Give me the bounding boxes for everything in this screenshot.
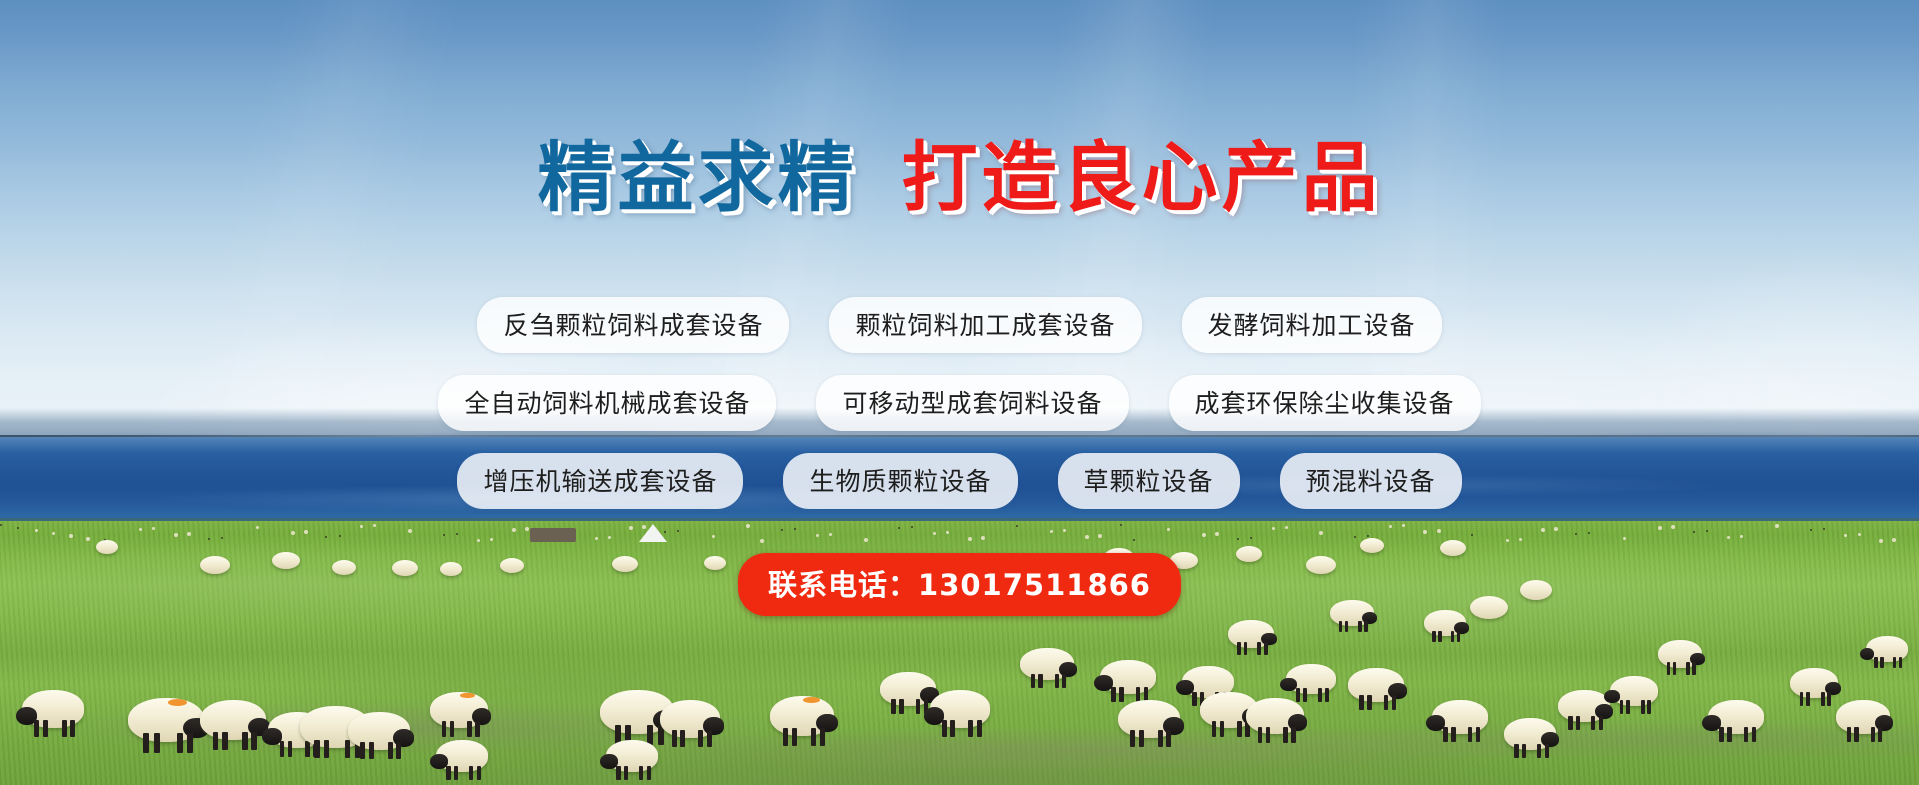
sheep-leg bbox=[1871, 727, 1875, 742]
product-pill-fermented-feed-processing[interactable]: 发酵饲料加工设备 bbox=[1182, 297, 1442, 353]
sheep bbox=[96, 540, 118, 554]
sheep-leg bbox=[1692, 662, 1696, 675]
sheep-leg bbox=[1667, 662, 1671, 675]
sheep bbox=[1432, 700, 1488, 734]
distant-animal-speck bbox=[608, 536, 611, 539]
sheep-leg bbox=[1476, 727, 1480, 742]
sheep-leg bbox=[1522, 744, 1526, 758]
sheep-leg bbox=[213, 732, 218, 750]
sheep-leg bbox=[1847, 727, 1851, 742]
sheep bbox=[430, 692, 488, 728]
sheep bbox=[1348, 668, 1404, 702]
distant-animal-speck bbox=[69, 534, 73, 538]
sheep-leg bbox=[1800, 692, 1804, 706]
distant-animal-speck bbox=[1471, 534, 1473, 536]
sheep-leg bbox=[698, 730, 703, 747]
sheep-leg bbox=[1384, 695, 1388, 710]
sheep bbox=[1286, 664, 1336, 694]
sheep-head bbox=[600, 754, 618, 769]
distant-animal-speck bbox=[52, 532, 55, 535]
distant-animal-speck bbox=[1858, 533, 1861, 536]
sheep-leg bbox=[647, 766, 651, 780]
sheep-leg bbox=[1038, 674, 1042, 688]
sheep-leg bbox=[891, 699, 895, 714]
sheep-leg bbox=[1325, 688, 1329, 702]
sheep-head bbox=[1280, 678, 1297, 692]
sheep-leg bbox=[1827, 692, 1831, 706]
distant-animal-speck bbox=[456, 533, 458, 535]
sheep-paint-mark bbox=[803, 697, 820, 703]
sheep bbox=[1866, 636, 1908, 662]
sheep-leg bbox=[1237, 642, 1241, 655]
sheep-leg bbox=[899, 699, 903, 714]
sheep-leg bbox=[222, 732, 227, 750]
sheep-leg bbox=[1457, 631, 1460, 643]
sheep-leg bbox=[324, 740, 330, 759]
distant-animal-speck bbox=[291, 531, 295, 535]
sheep-leg bbox=[639, 766, 643, 780]
sheep-leg bbox=[396, 742, 401, 759]
sheep-leg bbox=[1291, 727, 1296, 743]
sheep-paint-mark bbox=[168, 699, 188, 706]
sheep-leg bbox=[43, 720, 48, 737]
product-pill-mobile-feed-equipment[interactable]: 可移动型成套饲料设备 bbox=[816, 375, 1128, 431]
distant-animal-speck bbox=[1575, 533, 1577, 535]
sheep-head bbox=[1176, 680, 1194, 695]
sheep-leg bbox=[467, 721, 472, 737]
contact-phone-wrapper: 联系电话：13017511866 bbox=[0, 553, 1919, 616]
distant-animal-speck bbox=[1085, 535, 1089, 539]
sheep-leg bbox=[616, 766, 620, 780]
sheep-leg bbox=[950, 720, 955, 737]
sheep-leg bbox=[1296, 688, 1300, 702]
sheep-leg bbox=[1821, 692, 1825, 706]
sheep-leg bbox=[1451, 631, 1454, 643]
distant-animal-speck bbox=[1250, 537, 1252, 539]
sheep-head bbox=[1860, 648, 1874, 660]
distant-animal-speck bbox=[490, 538, 493, 541]
distant-animal-speck bbox=[325, 536, 327, 538]
sheep-leg bbox=[446, 766, 450, 780]
sheep-leg bbox=[1641, 700, 1645, 714]
product-pill-row-2: 全自动饲料机械成套设备 可移动型成套饲料设备 成套环保除尘收集设备 bbox=[0, 375, 1919, 431]
product-pill-biomass-pellet-equipment[interactable]: 生物质颗粒设备 bbox=[783, 453, 1017, 509]
product-pill-ruminant-pellet-feed[interactable]: 反刍颗粒饲料成套设备 bbox=[477, 297, 789, 353]
sheep-leg bbox=[1880, 657, 1883, 669]
sheep-leg bbox=[34, 720, 39, 737]
distant-animal-speck bbox=[443, 534, 445, 536]
sheep-leg bbox=[143, 733, 149, 753]
sheep-leg bbox=[624, 766, 628, 780]
sheep-leg bbox=[916, 699, 920, 714]
distant-animal-speck bbox=[1588, 532, 1590, 534]
sheep-leg bbox=[1212, 721, 1217, 737]
sheep bbox=[1246, 698, 1304, 734]
sheep bbox=[1020, 648, 1074, 680]
sheep-leg bbox=[1514, 744, 1518, 758]
distant-animal-speck bbox=[981, 536, 985, 540]
product-pill-row-3: 增压机输送成套设备 生物质颗粒设备 草颗粒设备 预混料设备 bbox=[0, 453, 1919, 509]
sheep-leg bbox=[1031, 674, 1035, 688]
sheep-head bbox=[1094, 675, 1113, 691]
sheep-body bbox=[1360, 538, 1384, 553]
sheep-leg bbox=[783, 728, 788, 746]
distant-animal-speck bbox=[1727, 536, 1730, 539]
sheep-leg bbox=[1893, 657, 1896, 669]
product-pill-grass-pellet-equipment[interactable]: 草颗粒设备 bbox=[1058, 453, 1240, 509]
distant-animal-speck bbox=[816, 534, 819, 537]
distant-animal-speck bbox=[1319, 531, 1323, 535]
product-pill-automatic-feed-machinery[interactable]: 全自动饲料机械成套设备 bbox=[438, 375, 776, 431]
distant-animal-speck bbox=[339, 535, 341, 537]
sheep-leg bbox=[1318, 688, 1322, 702]
sheep-leg bbox=[977, 720, 982, 737]
sheep-leg bbox=[1686, 662, 1690, 675]
sheep-leg bbox=[1806, 692, 1810, 706]
sheep-leg bbox=[388, 742, 393, 759]
sheep-head bbox=[1426, 715, 1445, 731]
sheep bbox=[128, 698, 204, 742]
sheep-leg bbox=[1899, 657, 1902, 669]
sheep-leg bbox=[1244, 642, 1248, 655]
sheep-leg bbox=[1237, 721, 1242, 737]
sheep-leg bbox=[1591, 716, 1595, 730]
sheep-leg bbox=[360, 742, 365, 759]
sheep-leg bbox=[70, 720, 75, 737]
sheep-leg bbox=[1576, 716, 1580, 730]
distant-animal-speck bbox=[86, 537, 90, 541]
product-pill-row-1: 反刍颗粒饲料成套设备 颗粒饲料加工成套设备 发酵饲料加工设备 bbox=[0, 297, 1919, 353]
distant-animal-speck bbox=[187, 532, 191, 536]
sheep-leg bbox=[1537, 744, 1541, 758]
sheep-leg bbox=[1367, 695, 1371, 710]
distant-animal-speck bbox=[1215, 532, 1219, 536]
sheep-leg bbox=[242, 732, 247, 750]
headline-red-text: 打造良心产品 bbox=[902, 133, 1382, 222]
sheep-leg bbox=[1303, 688, 1307, 702]
sheep-leg bbox=[1055, 674, 1059, 688]
sheep-leg bbox=[1568, 716, 1572, 730]
sheep bbox=[770, 696, 834, 736]
distant-animal-speck bbox=[1844, 534, 1847, 537]
sheep-leg bbox=[1339, 621, 1343, 633]
sheep-leg bbox=[820, 728, 825, 746]
distant-animal-speck bbox=[208, 538, 210, 540]
sheep-leg bbox=[1438, 631, 1441, 643]
sheep-leg bbox=[1647, 700, 1651, 714]
sheep-leg bbox=[1673, 662, 1677, 675]
sheep-leg bbox=[477, 766, 481, 780]
sheep bbox=[1118, 700, 1180, 738]
sheep-leg bbox=[1359, 695, 1363, 710]
sheep bbox=[1658, 640, 1702, 668]
sheep-leg bbox=[1626, 700, 1630, 714]
distant-animal-speck bbox=[1879, 539, 1883, 543]
sheep-leg bbox=[792, 728, 797, 746]
distant-animal-speck bbox=[1519, 538, 1522, 541]
distant-animal-speck bbox=[477, 539, 480, 542]
sheep-leg bbox=[280, 741, 285, 757]
distant-animal-speck bbox=[712, 535, 715, 538]
sheep bbox=[1558, 690, 1610, 722]
sheep-leg bbox=[469, 766, 473, 780]
sheep-leg bbox=[1878, 727, 1882, 742]
sheep-leg bbox=[177, 733, 183, 753]
distant-animal-speck bbox=[1237, 538, 1239, 540]
sheep-leg bbox=[942, 720, 947, 737]
distant-animal-speck bbox=[1892, 538, 1896, 542]
distant-animal-speck bbox=[760, 539, 764, 543]
sheep bbox=[200, 700, 266, 740]
distant-animal-speck bbox=[174, 533, 178, 537]
sheep-leg bbox=[1139, 730, 1144, 747]
sheep bbox=[348, 712, 410, 750]
sheep-head bbox=[1702, 715, 1721, 731]
distant-animal-speck bbox=[1367, 535, 1369, 537]
sheep-leg bbox=[1111, 687, 1115, 702]
sheep bbox=[1790, 668, 1838, 698]
distant-animal-speck bbox=[595, 537, 598, 540]
distant-animal-speck bbox=[1623, 537, 1626, 540]
sheep-leg bbox=[1752, 727, 1756, 742]
distant-animal-speck bbox=[1693, 531, 1695, 533]
sheep-leg bbox=[454, 766, 458, 780]
sheep bbox=[880, 672, 936, 706]
sheep bbox=[22, 690, 84, 728]
distant-animal-speck bbox=[968, 537, 972, 541]
sheep-head bbox=[262, 728, 282, 745]
sheep bbox=[1610, 676, 1658, 706]
sheep-leg bbox=[1599, 716, 1603, 730]
sheep-leg bbox=[1392, 695, 1396, 710]
distant-animal-speck bbox=[1740, 535, 1743, 538]
sheep bbox=[660, 700, 720, 738]
sheep-leg bbox=[1432, 631, 1435, 643]
sheep bbox=[930, 690, 990, 728]
sheep-leg bbox=[1744, 727, 1748, 742]
sheep bbox=[1228, 620, 1274, 648]
sheep-leg bbox=[680, 730, 685, 747]
sheep-leg bbox=[1854, 727, 1858, 742]
product-pill-booster-conveying-equipment[interactable]: 增压机输送成套设备 bbox=[457, 453, 743, 509]
sheep-leg bbox=[672, 730, 677, 747]
sheep-leg bbox=[1468, 727, 1472, 742]
distant-animal-speck bbox=[946, 531, 949, 534]
sheep-leg bbox=[450, 721, 455, 737]
sheep-leg bbox=[1264, 642, 1268, 655]
sheep-head bbox=[1604, 690, 1620, 704]
sheep-leg bbox=[1719, 727, 1723, 742]
contact-phone-badge[interactable]: 联系电话：13017511866 bbox=[738, 553, 1181, 616]
product-pill-rows: 反刍颗粒饲料成套设备 颗粒饲料加工成套设备 发酵饲料加工设备 全自动饲料机械成套… bbox=[0, 297, 1919, 531]
sheep bbox=[1504, 718, 1556, 750]
sheep-leg bbox=[1874, 657, 1877, 669]
sheep-leg bbox=[811, 728, 816, 746]
sheep-leg bbox=[62, 720, 67, 737]
sheep-leg bbox=[154, 733, 160, 753]
sheep bbox=[1100, 660, 1156, 694]
sheep-leg bbox=[369, 742, 374, 759]
sheep-leg bbox=[1620, 700, 1624, 714]
distant-animal-speck bbox=[864, 538, 868, 542]
sheep-leg bbox=[1727, 727, 1731, 742]
distant-animal-speck bbox=[1202, 533, 1206, 537]
sheep-leg bbox=[288, 741, 293, 757]
sheep-leg bbox=[1443, 727, 1447, 742]
sheep-leg bbox=[1258, 727, 1263, 743]
sheep-leg bbox=[1257, 642, 1261, 655]
sheep bbox=[436, 740, 488, 772]
sheep-leg bbox=[707, 730, 712, 747]
sheep-leg bbox=[442, 721, 447, 737]
product-pill-dust-collection-equipment[interactable]: 成套环保除尘收集设备 bbox=[1169, 375, 1481, 431]
sheep-body bbox=[96, 540, 118, 554]
distant-animal-speck bbox=[829, 533, 832, 536]
distant-animal-speck bbox=[1354, 536, 1356, 538]
sheep-head bbox=[430, 754, 448, 769]
distant-animal-speck bbox=[1098, 534, 1102, 538]
distant-animal-speck bbox=[933, 532, 936, 535]
sheep-leg bbox=[1266, 727, 1271, 743]
sheep-leg bbox=[187, 733, 193, 753]
sheep-leg bbox=[1283, 727, 1288, 743]
sheep bbox=[606, 740, 658, 772]
headline: 精益求精打造良心产品 bbox=[0, 140, 1919, 216]
sheep-leg bbox=[1364, 621, 1368, 633]
sheep-leg bbox=[251, 732, 256, 750]
distant-animal-speck bbox=[1506, 539, 1509, 542]
sheep-leg bbox=[1545, 744, 1549, 758]
distant-animal-speck bbox=[221, 537, 223, 539]
sheep-leg bbox=[1358, 621, 1362, 633]
sheep bbox=[1836, 700, 1890, 734]
sheep-leg bbox=[314, 740, 320, 759]
sheep-leg bbox=[1345, 621, 1349, 633]
headline-blue-text: 精益求精 bbox=[538, 133, 858, 222]
sheep-leg bbox=[1158, 730, 1163, 747]
sheep-leg bbox=[475, 721, 480, 737]
distant-animal-speck bbox=[1133, 539, 1135, 541]
product-pill-premix-equipment[interactable]: 预混料设备 bbox=[1280, 453, 1462, 509]
sheep-leg bbox=[1130, 730, 1135, 747]
product-pill-pellet-feed-processing[interactable]: 颗粒饲料加工成套设备 bbox=[829, 297, 1141, 353]
sheep bbox=[1360, 538, 1384, 553]
sheep-leg bbox=[1192, 692, 1196, 706]
sheep-leg bbox=[1220, 721, 1225, 737]
sheep-leg bbox=[1062, 674, 1066, 688]
sheep-leg bbox=[1166, 730, 1171, 747]
promotional-banner: 精益求精打造良心产品 反刍颗粒饲料成套设备 颗粒饲料加工成套设备 发酵饲料加工设… bbox=[0, 0, 1919, 785]
sheep-leg bbox=[1451, 727, 1455, 742]
sheep bbox=[1708, 700, 1764, 734]
sheep-leg bbox=[968, 720, 973, 737]
